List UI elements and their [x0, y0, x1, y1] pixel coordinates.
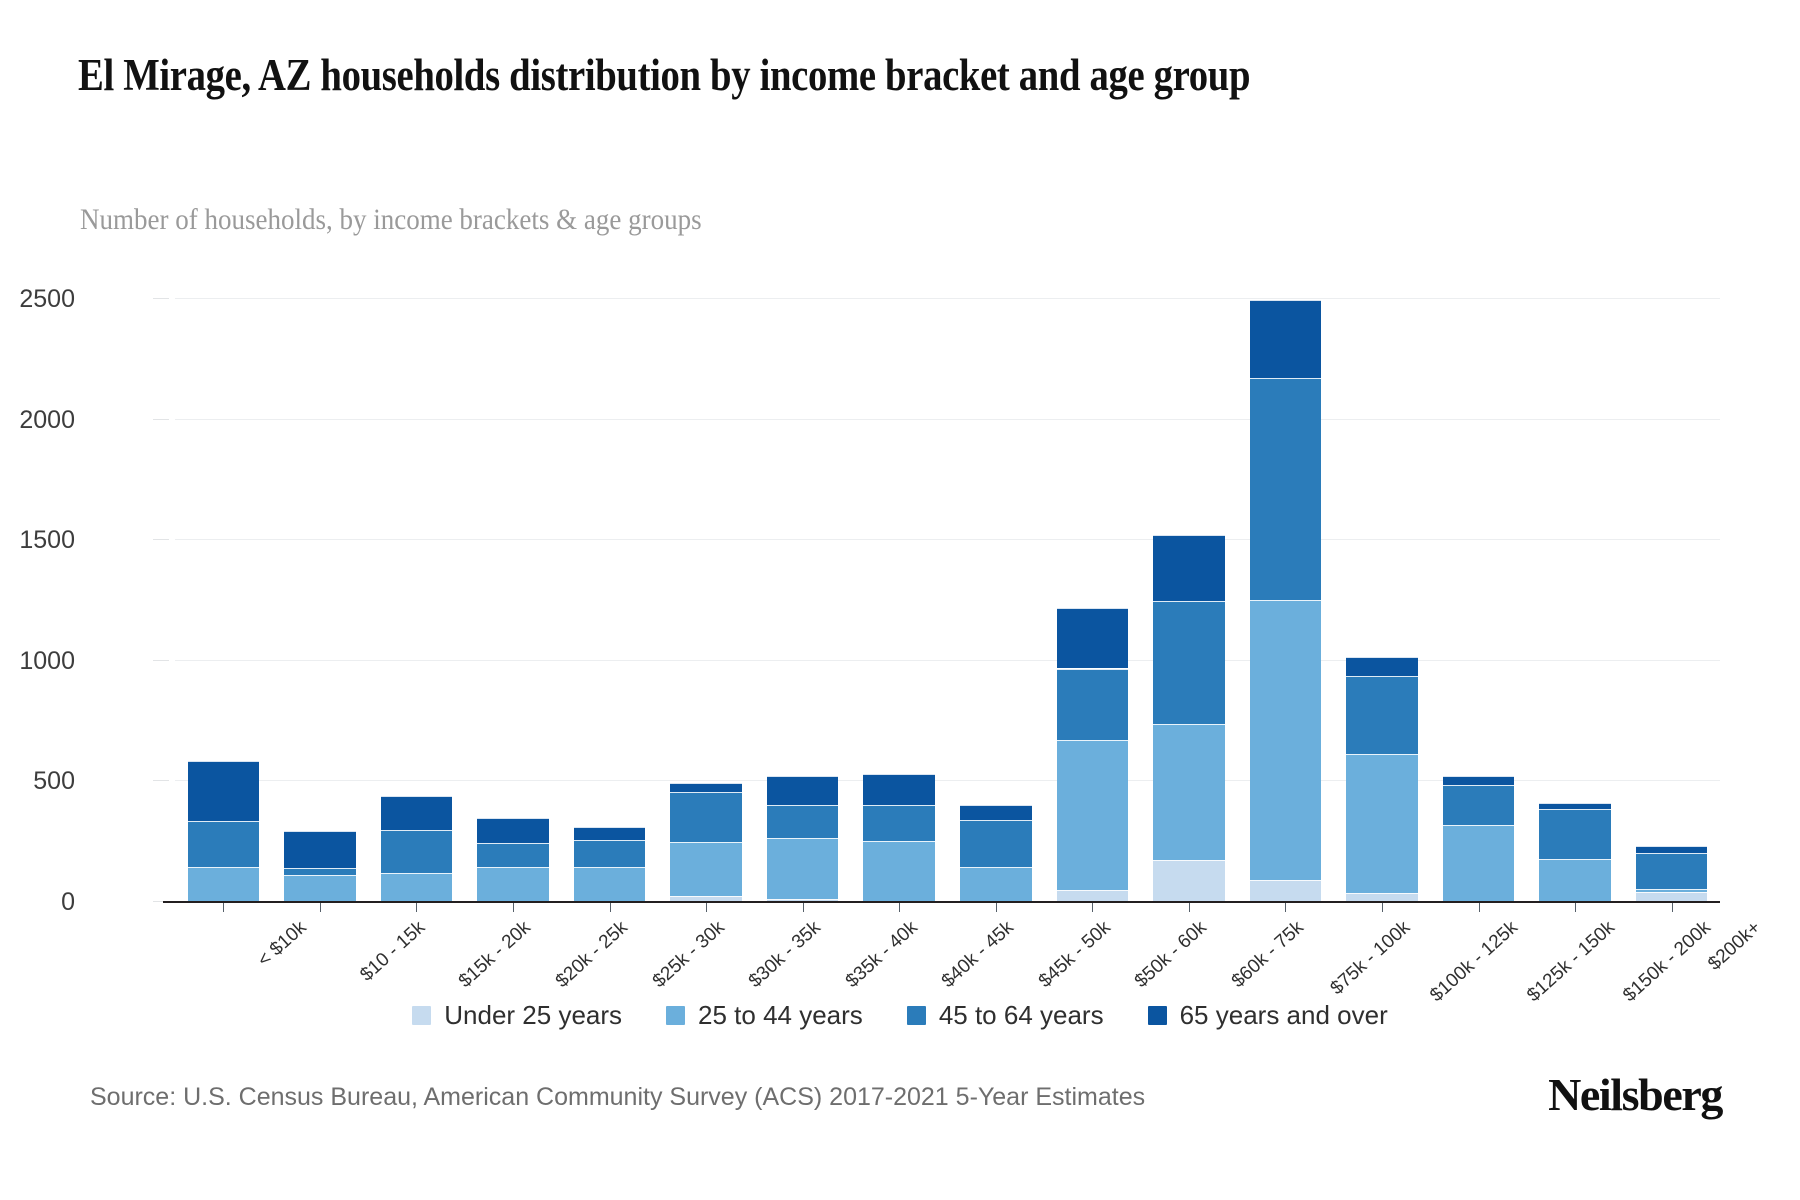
x-tick-mark [996, 903, 997, 912]
chart-subtitle: Number of households, by income brackets… [80, 203, 702, 237]
x-tick-mark [320, 903, 321, 912]
bar-segment[interactable] [1250, 600, 1321, 880]
x-axis-tick-label: $20k - 25k [552, 917, 633, 993]
bar-segment[interactable] [381, 830, 452, 873]
page-title: El Mirage, AZ households distribution by… [78, 48, 1420, 104]
x-axis-tick-label: $25k - 30k [648, 917, 729, 993]
x-axis-tick-label: $75k - 100k [1327, 917, 1416, 1000]
bar-segment[interactable] [960, 820, 1031, 867]
y-axis-tick-label: 2500 [0, 285, 75, 314]
bar-segment[interactable] [1057, 669, 1128, 741]
bar-stack[interactable] [1443, 298, 1514, 901]
bar-segment[interactable] [670, 792, 741, 842]
bar-segment[interactable] [381, 873, 452, 901]
x-axis-tick-label: $50k - 60k [1131, 917, 1212, 993]
bar-segment[interactable] [1443, 785, 1514, 825]
bar-segment[interactable] [1346, 676, 1417, 753]
y-axis-tick-label: 0 [0, 888, 75, 917]
x-tick-mark [1189, 903, 1190, 912]
bar-segment[interactable] [1057, 740, 1128, 890]
bar-segment[interactable] [477, 867, 548, 901]
bar-segment[interactable] [284, 868, 355, 875]
bar-segment[interactable] [1636, 889, 1707, 892]
x-axis-tick-label: $30k - 35k [745, 917, 826, 993]
bar-segment[interactable] [863, 841, 934, 901]
bar-segment[interactable] [767, 805, 838, 838]
bar-stack[interactable] [670, 298, 741, 901]
bar-segment[interactable] [670, 783, 741, 792]
bar-segment[interactable] [1636, 846, 1707, 853]
bar-segment[interactable] [1057, 608, 1128, 668]
legend-swatch-icon [666, 1006, 685, 1025]
x-axis-tick-label: $150k - 200k [1619, 917, 1715, 1007]
x-tick-mark [513, 903, 514, 912]
bar-stack[interactable] [574, 298, 645, 901]
y-tick-mark [153, 660, 169, 661]
legend-item-label: 25 to 44 years [698, 1000, 863, 1031]
source-note: Source: U.S. Census Bureau, American Com… [90, 1083, 1145, 1112]
bar-segment[interactable] [381, 796, 452, 830]
x-axis-tick-label: < $10k [254, 917, 312, 972]
x-axis-tick-label: $10 - 15k [356, 917, 430, 986]
bar-segment[interactable] [1443, 825, 1514, 901]
x-axis-tick-label: $35k - 40k [841, 917, 922, 993]
x-tick-mark [706, 903, 707, 912]
bar-stack[interactable] [1057, 298, 1128, 901]
x-tick-mark [1575, 903, 1576, 912]
bar-segment[interactable] [1539, 803, 1610, 809]
x-tick-mark [416, 903, 417, 912]
bar-segment[interactable] [574, 867, 645, 901]
x-axis-tick-label: $40k - 45k [938, 917, 1019, 993]
x-axis-tick-label: $200k+ [1704, 917, 1765, 975]
y-tick-mark [153, 298, 169, 299]
bar-segment[interactable] [1346, 657, 1417, 676]
x-axis-tick-label: $15k - 20k [455, 917, 536, 993]
bar-segment[interactable] [863, 774, 934, 805]
bar-stack[interactable] [863, 298, 934, 901]
legend-item[interactable]: 65 years and over [1148, 1000, 1388, 1031]
brand-logo: Neilsberg [1548, 1068, 1722, 1121]
y-tick-mark [153, 419, 169, 420]
x-tick-mark [899, 903, 900, 912]
chart-legend: Under 25 years25 to 44 years45 to 64 yea… [0, 1000, 1800, 1031]
legend-swatch-icon [1148, 1006, 1167, 1025]
bar-segment[interactable] [1250, 300, 1321, 377]
bar-segment[interactable] [767, 776, 838, 805]
y-axis-tick-label: 2000 [0, 406, 75, 435]
x-tick-mark [610, 903, 611, 912]
bar-stack[interactable] [1250, 298, 1321, 901]
bar-segment[interactable] [574, 840, 645, 868]
y-axis-tick-label: 500 [0, 767, 75, 796]
bar-segment[interactable] [767, 838, 838, 899]
legend-item[interactable]: Under 25 years [412, 1000, 622, 1031]
x-axis-tick-label: $100k - 125k [1426, 917, 1522, 1007]
legend-swatch-icon [412, 1006, 431, 1025]
bar-stack[interactable] [767, 298, 838, 901]
bar-stack[interactable] [284, 298, 355, 901]
x-axis-tick-label: $125k - 150k [1523, 917, 1619, 1007]
bar-segment[interactable] [1153, 724, 1224, 861]
bar-stack[interactable] [381, 298, 452, 901]
bar-segment[interactable] [188, 761, 259, 820]
legend-item[interactable]: 45 to 64 years [907, 1000, 1104, 1031]
bar-segment[interactable] [960, 867, 1031, 901]
bar-segment[interactable] [1057, 890, 1128, 901]
bars-layer [175, 298, 1720, 901]
bar-segment[interactable] [1346, 893, 1417, 901]
x-axis-tick-label: $45k - 50k [1035, 917, 1116, 993]
bar-segment[interactable] [284, 875, 355, 901]
bar-stack[interactable] [1636, 298, 1707, 901]
bar-segment[interactable] [188, 867, 259, 901]
bar-segment[interactable] [1250, 880, 1321, 901]
bar-segment[interactable] [188, 821, 259, 867]
bar-segment[interactable] [1636, 892, 1707, 901]
bar-segment[interactable] [960, 805, 1031, 820]
bar-segment[interactable] [863, 805, 934, 841]
y-tick-mark [153, 780, 169, 781]
bar-segment[interactable] [477, 843, 548, 867]
x-tick-mark [1092, 903, 1093, 912]
bar-segment[interactable] [1539, 859, 1610, 901]
bar-segment[interactable] [1153, 860, 1224, 901]
bar-segment[interactable] [284, 831, 355, 868]
x-tick-mark [1672, 903, 1673, 912]
x-axis-tick-label: $60k - 75k [1228, 917, 1309, 993]
legend-item-label: Under 25 years [444, 1000, 622, 1031]
bar-segment[interactable] [477, 818, 548, 843]
legend-swatch-icon [907, 1006, 926, 1025]
bar-segment[interactable] [1539, 809, 1610, 859]
x-tick-mark [1382, 903, 1383, 912]
chart-page: El Mirage, AZ households distribution by… [0, 0, 1800, 1200]
x-axis-line [163, 901, 1720, 903]
bar-stack[interactable] [1346, 298, 1417, 901]
bar-segment[interactable] [1346, 754, 1417, 893]
legend-item[interactable]: 25 to 44 years [666, 1000, 863, 1031]
legend-item-label: 45 to 64 years [939, 1000, 1104, 1031]
bar-segment[interactable] [1443, 776, 1514, 785]
bar-stack[interactable] [477, 298, 548, 901]
bar-segment[interactable] [1636, 853, 1707, 889]
y-tick-mark [153, 539, 169, 540]
bar-segment[interactable] [1250, 378, 1321, 600]
x-tick-mark [1285, 903, 1286, 912]
bar-stack[interactable] [188, 298, 259, 901]
x-tick-mark [223, 903, 224, 912]
y-axis-tick-label: 1500 [0, 526, 75, 555]
x-tick-mark [1479, 903, 1480, 912]
bar-segment[interactable] [574, 827, 645, 840]
bar-segment[interactable] [1153, 601, 1224, 724]
y-axis-tick-label: 1000 [0, 647, 75, 676]
bar-stack[interactable] [1153, 298, 1224, 901]
plot-area: 05001000150020002500 [175, 298, 1720, 901]
x-tick-mark [803, 903, 804, 912]
bar-segment[interactable] [670, 842, 741, 896]
bar-segment[interactable] [1153, 535, 1224, 602]
bar-stack[interactable] [960, 298, 1031, 901]
legend-item-label: 65 years and over [1180, 1000, 1388, 1031]
bar-stack[interactable] [1539, 298, 1610, 901]
